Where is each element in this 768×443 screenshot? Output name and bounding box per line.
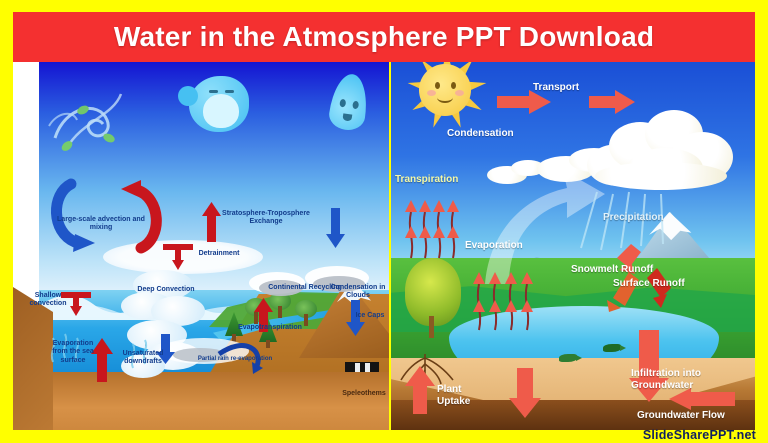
label-snowmelt-runoff: Snowmelt Runoff [571,264,653,276]
title-bar: Water in the Atmosphere PPT Download [13,12,755,62]
label-unsaturated-downdrafts: Unsaturated downdrafts [115,350,171,367]
label-evaporation-from-sea-surface: Evaporation from the sea surface [45,340,101,365]
right-diagram-panel: Transport Condensation Precipitation Tra… [391,62,755,430]
left-diagram-panel: Large-scale advection and mixing Shallow… [13,62,389,430]
watermark: SlideSharePPT.net [643,428,756,442]
label-detrainment: Detrainment [189,250,249,258]
label-surface-runoff: Surface Runoff [613,278,685,290]
poster-canvas: Water in the Atmosphere PPT Download [0,0,768,443]
label-speleothems: Speleothems [337,390,389,398]
left-arrow-layer [13,62,389,430]
label-precipitation: Precipitation [603,212,664,224]
page-title: Water in the Atmosphere PPT Download [114,21,654,53]
label-infiltration-into-groundwater: Infiltration into Groundwater [631,368,701,391]
label-shallow-convection: Shallow convection [21,292,75,309]
label-deep-convection: Deep Convection [127,286,205,294]
label-stratosphere-troposphere-exchange: Stratosphere-Troposphere Exchange [209,210,323,227]
label-ice-caps: Ice Caps [351,312,389,320]
label-partial-rain-re-evaporation: Partial rain re-evaporation [189,356,281,363]
label-transpiration: Transpiration [395,174,458,186]
label-evapotranspiration: Evapotranspiration [235,324,305,332]
label-evaporation: Evaporation [465,240,523,252]
label-groundwater-flow: Groundwater Flow [637,410,725,422]
label-plant-uptake: Plant Uptake [437,384,470,407]
label-large-scale-advection: Large-scale advection and mixing [53,216,149,233]
label-transport: Transport [533,82,579,94]
label-condensation: Condensation [447,128,514,140]
label-condensation-in-clouds: Condensation in Clouds [327,284,389,301]
